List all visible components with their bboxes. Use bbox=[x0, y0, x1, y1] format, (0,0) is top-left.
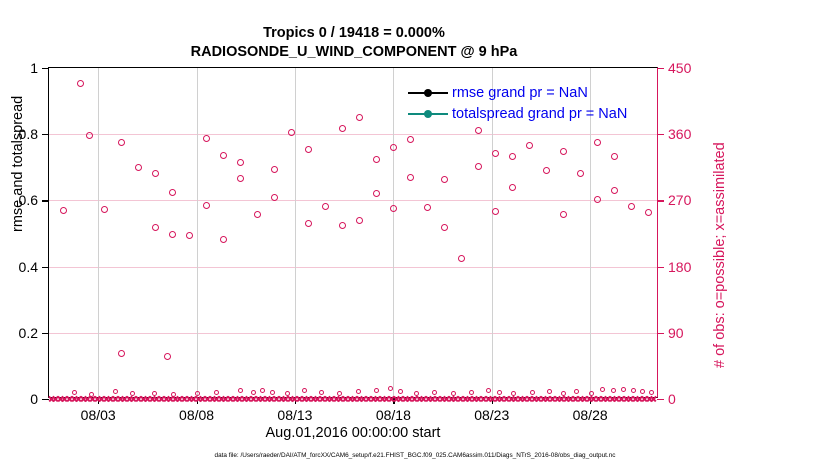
vertical-gridline bbox=[98, 68, 99, 397]
obs-possible-marker bbox=[373, 190, 380, 197]
legend-item-rmse[interactable]: rmse grand pr = NaN bbox=[408, 82, 660, 103]
vertical-gridline bbox=[393, 68, 394, 397]
obs-possible-marker bbox=[86, 132, 93, 139]
obs-possible-marker bbox=[560, 148, 567, 155]
obs-possible-marker bbox=[492, 150, 499, 157]
obs-possible-marker bbox=[611, 153, 618, 160]
obs-possible-marker bbox=[152, 170, 159, 177]
y-axis-left-tick bbox=[42, 68, 49, 69]
horizontal-gridline bbox=[49, 134, 657, 135]
obs-possible-marker bbox=[339, 125, 346, 132]
y-axis-left-tick-label: 0.2 bbox=[19, 325, 38, 341]
data-file-note: data file: /Users/raeder/DAI/ATM_forcXX/… bbox=[0, 452, 830, 459]
x-axis-tick-label: 08/08 bbox=[179, 407, 214, 423]
legend-label-rmse: rmse grand pr = NaN bbox=[452, 85, 588, 101]
obs-possible-marker bbox=[356, 114, 363, 121]
chart-legend: rmse grand pr = NaN totalspread grand pr… bbox=[408, 80, 660, 126]
x-axis-tick-label: 08/13 bbox=[277, 407, 312, 423]
obs-possible-marker bbox=[77, 80, 84, 87]
obs-possible-marker bbox=[441, 176, 448, 183]
obs-possible-marker bbox=[628, 203, 635, 210]
obs-possible-marker bbox=[594, 196, 601, 203]
obs-assimilated-marker bbox=[650, 395, 657, 402]
obs-possible-marker-baseline bbox=[238, 388, 243, 393]
obs-possible-marker bbox=[135, 164, 142, 171]
obs-possible-marker bbox=[322, 203, 329, 210]
obs-possible-marker-baseline bbox=[260, 388, 265, 393]
legend-marker-rmse-icon bbox=[408, 87, 448, 99]
obs-possible-marker-baseline bbox=[302, 388, 307, 393]
vertical-gridline bbox=[197, 68, 198, 397]
obs-possible-marker bbox=[509, 184, 516, 191]
legend-label-totalspread: totalspread grand pr = NaN bbox=[452, 106, 627, 122]
obs-possible-marker bbox=[118, 350, 125, 357]
y-axis-left-tick bbox=[42, 134, 49, 135]
x-axis-tick-label: 08/23 bbox=[474, 407, 509, 423]
obs-possible-marker-baseline bbox=[356, 389, 361, 394]
obs-possible-marker bbox=[169, 231, 176, 238]
vertical-gridline bbox=[295, 68, 296, 397]
obs-possible-marker bbox=[203, 135, 210, 142]
obs-possible-marker bbox=[271, 194, 278, 201]
horizontal-gridline bbox=[49, 333, 657, 334]
x-axis-tick-label: 08/03 bbox=[81, 407, 116, 423]
obs-possible-marker-baseline bbox=[113, 389, 118, 394]
y-axis-left-tick-label: 1 bbox=[30, 60, 38, 76]
y-axis-left-tick-label: 0.6 bbox=[19, 192, 38, 208]
obs-possible-marker bbox=[169, 189, 176, 196]
y-axis-left-tick-label: 0 bbox=[30, 391, 38, 407]
obs-possible-marker-baseline bbox=[486, 388, 491, 393]
obs-possible-marker-baseline bbox=[600, 387, 605, 392]
x-axis-label: Aug.01,2016 00:00:00 start bbox=[48, 425, 658, 441]
y-axis-right-tick-label: 180 bbox=[668, 259, 691, 275]
y-axis-left-tick bbox=[42, 200, 49, 201]
obs-possible-marker bbox=[60, 207, 67, 214]
obs-possible-marker bbox=[373, 156, 380, 163]
horizontal-gridline bbox=[49, 267, 657, 268]
obs-possible-marker-baseline bbox=[574, 389, 579, 394]
obs-possible-marker bbox=[356, 217, 363, 224]
obs-possible-marker bbox=[220, 152, 227, 159]
obs-possible-marker bbox=[305, 146, 312, 153]
obs-possible-marker bbox=[475, 127, 482, 134]
obs-possible-marker bbox=[118, 139, 125, 146]
y-axis-left-tick-label: 0.8 bbox=[19, 126, 38, 142]
obs-possible-marker bbox=[237, 159, 244, 166]
obs-possible-marker bbox=[594, 139, 601, 146]
y-axis-right-tick bbox=[657, 134, 664, 135]
y-axis-left-label: rmse and totalspread bbox=[10, 96, 26, 232]
y-axis-right-tick bbox=[657, 333, 664, 334]
obs-possible-marker bbox=[475, 163, 482, 170]
chart-title: Tropics 0 / 19418 = 0.000% RADIOSONDE_U_… bbox=[0, 24, 708, 62]
obs-possible-marker-baseline bbox=[631, 388, 636, 393]
y-axis-right-tick-label: 270 bbox=[668, 192, 691, 208]
y-axis-right-tick bbox=[657, 200, 664, 201]
y-axis-right-tick-label: 360 bbox=[668, 126, 691, 142]
obs-possible-marker bbox=[164, 353, 171, 360]
obs-possible-marker-baseline bbox=[398, 389, 403, 394]
obs-possible-marker bbox=[203, 202, 210, 209]
obs-possible-marker-baseline bbox=[547, 389, 552, 394]
obs-possible-marker bbox=[237, 175, 244, 182]
obs-possible-marker bbox=[101, 206, 108, 213]
legend-marker-totalspread-icon bbox=[408, 108, 448, 120]
x-axis-tick-label: 08/18 bbox=[376, 407, 411, 423]
legend-item-totalspread[interactable]: totalspread grand pr = NaN bbox=[408, 103, 660, 124]
obs-possible-marker bbox=[254, 211, 261, 218]
obs-possible-marker bbox=[305, 220, 312, 227]
y-axis-left-tick-label: 0.4 bbox=[19, 259, 38, 275]
y-axis-left-tick bbox=[42, 267, 49, 268]
obs-possible-marker bbox=[526, 142, 533, 149]
obs-possible-marker bbox=[577, 170, 584, 177]
horizontal-gridline bbox=[49, 200, 657, 201]
obs-possible-marker bbox=[390, 205, 397, 212]
y-axis-right-tick bbox=[657, 267, 664, 268]
obs-possible-marker bbox=[509, 153, 516, 160]
obs-possible-marker bbox=[441, 224, 448, 231]
obs-possible-marker-baseline bbox=[374, 388, 379, 393]
x-axis-tick-label: 08/28 bbox=[573, 407, 608, 423]
obs-possible-marker-baseline bbox=[388, 386, 393, 391]
obs-possible-marker-baseline bbox=[621, 387, 626, 392]
obs-possible-marker bbox=[645, 209, 652, 216]
obs-possible-marker bbox=[390, 144, 397, 151]
y-axis-left-tick bbox=[42, 333, 49, 334]
chart-title-line-1: Tropics 0 / 19418 = 0.000% bbox=[0, 24, 708, 43]
obs-possible-marker bbox=[288, 129, 295, 136]
obs-possible-marker bbox=[424, 204, 431, 211]
y-axis-right-tick bbox=[657, 399, 664, 400]
y-axis-right-tick bbox=[657, 68, 664, 69]
obs-possible-marker bbox=[220, 236, 227, 243]
obs-possible-marker bbox=[271, 166, 278, 173]
y-axis-right-tick-label: 90 bbox=[668, 325, 684, 341]
obs-possible-marker bbox=[152, 224, 159, 231]
obs-possible-marker bbox=[543, 167, 550, 174]
y-axis-right-tick-label: 450 bbox=[668, 60, 691, 76]
obs-possible-marker bbox=[339, 222, 346, 229]
chart-title-line-2: RADIOSONDE_U_WIND_COMPONENT @ 9 hPa bbox=[0, 43, 708, 62]
obs-possible-marker bbox=[458, 255, 465, 262]
obs-possible-marker bbox=[186, 232, 193, 239]
obs-possible-marker bbox=[492, 208, 499, 215]
obs-possible-marker-baseline bbox=[640, 389, 645, 394]
figure-canvas: Tropics 0 / 19418 = 0.000% RADIOSONDE_U_… bbox=[0, 0, 830, 470]
obs-possible-marker-baseline bbox=[611, 388, 616, 393]
obs-possible-marker bbox=[407, 136, 414, 143]
y-axis-right-label: # of obs: o=possible; x=assimilated bbox=[712, 142, 728, 368]
obs-possible-marker bbox=[560, 211, 567, 218]
obs-possible-marker bbox=[611, 187, 618, 194]
y-axis-right-tick-label: 0 bbox=[668, 391, 676, 407]
obs-possible-marker bbox=[407, 174, 414, 181]
